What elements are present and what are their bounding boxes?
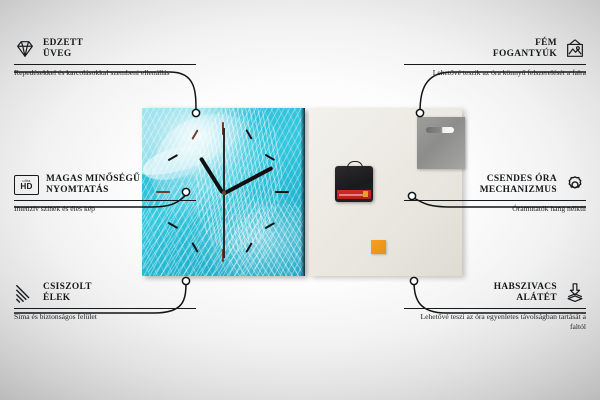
clock-tick [191,242,198,252]
clock-mechanism [335,166,373,202]
clock-tick [265,154,275,161]
feature-polished-edges[interactable]: CSISZOLT ÉLEK Sima és biztonságos felüle… [14,282,196,322]
feature-high-quality-print[interactable]: ultra HD MAGAS MINŐSÉGŰ NYOMTATÁS Intenz… [14,174,196,214]
battery-terminal [363,191,368,197]
diamond-icon [14,38,36,60]
ultra-hd-large-label: HD [20,183,32,191]
feature-title: CSENDES ÓRA [480,174,557,185]
divider [404,308,586,309]
feature-title: FÉM [493,38,557,49]
connector-metal-handles [420,72,586,112]
feature-description: Repedésekkel és karcolásokkal szembeni e… [14,68,196,77]
feature-title: HABSZIVACS [494,282,557,293]
picture-frame-icon [564,38,586,60]
polished-edges-icon [14,282,36,304]
feature-title: CSISZOLT [43,282,92,293]
feature-title: FOGANTYÚK [493,49,557,60]
feature-description: Lehetővé teszi az óra egyenletes távolsá… [404,312,586,331]
hanger-slot [426,127,454,133]
foam-pad-icon [564,282,586,304]
battery-stripe [339,194,363,196]
clock-tick [245,129,252,139]
feature-title: MAGAS MINŐSÉGŰ [46,174,140,185]
connector-tempered-glass [14,72,196,112]
clock-tick [191,129,198,139]
feature-title: EDZETT [43,38,83,49]
clock-tick [168,154,178,161]
feature-title: ÜVEG [43,49,83,60]
divider [404,64,586,65]
clock-center-pin [222,191,226,195]
divider [14,308,196,309]
divider [14,64,196,65]
feature-description: Intenzív színek és éles kép [14,204,196,213]
clock-hour-hand [199,156,225,194]
feature-metal-handles[interactable]: FÉM FOGANTYÚK Lehetővé teszik az óra kön… [404,38,586,78]
clock-tick [245,242,252,252]
gear-icon [564,174,586,196]
feature-title: MECHANIZMUS [480,185,557,196]
divider [404,200,586,201]
feature-description: Óramutatók hang nélkül [404,204,586,213]
feature-description: Lehetővé teszik az óra könnyű felszerelé… [404,68,586,77]
divider [14,200,196,201]
mechanism-hook [347,161,363,170]
clock-tick [168,222,178,229]
feature-title: NYOMTATÁS [46,185,140,196]
metal-hanger-plate [417,117,465,169]
feature-title: ÉLEK [43,293,92,304]
foam-pad [371,240,386,254]
feature-tempered-glass[interactable]: EDZETT ÜVEG Repedésekkel és karcolásokka… [14,38,196,78]
feature-title: ALÁTÉT [494,293,557,304]
clock-tick [265,222,275,229]
infographic-stage: EDZETT ÜVEG Repedésekkel és karcolásokka… [0,0,600,400]
feature-description: Sima és biztonságos felület [14,312,196,321]
clock-minute-hand [222,166,273,195]
ultra-hd-icon: ultra HD [14,175,39,195]
feature-foam-pad[interactable]: HABSZIVACS ALÁTÉT Lehetővé teszi az óra … [404,282,586,331]
feature-silent-mechanism[interactable]: CSENDES ÓRA MECHANIZMUS Óramutatók hang … [404,174,586,214]
battery [337,190,371,199]
clock-tick [275,191,289,193]
